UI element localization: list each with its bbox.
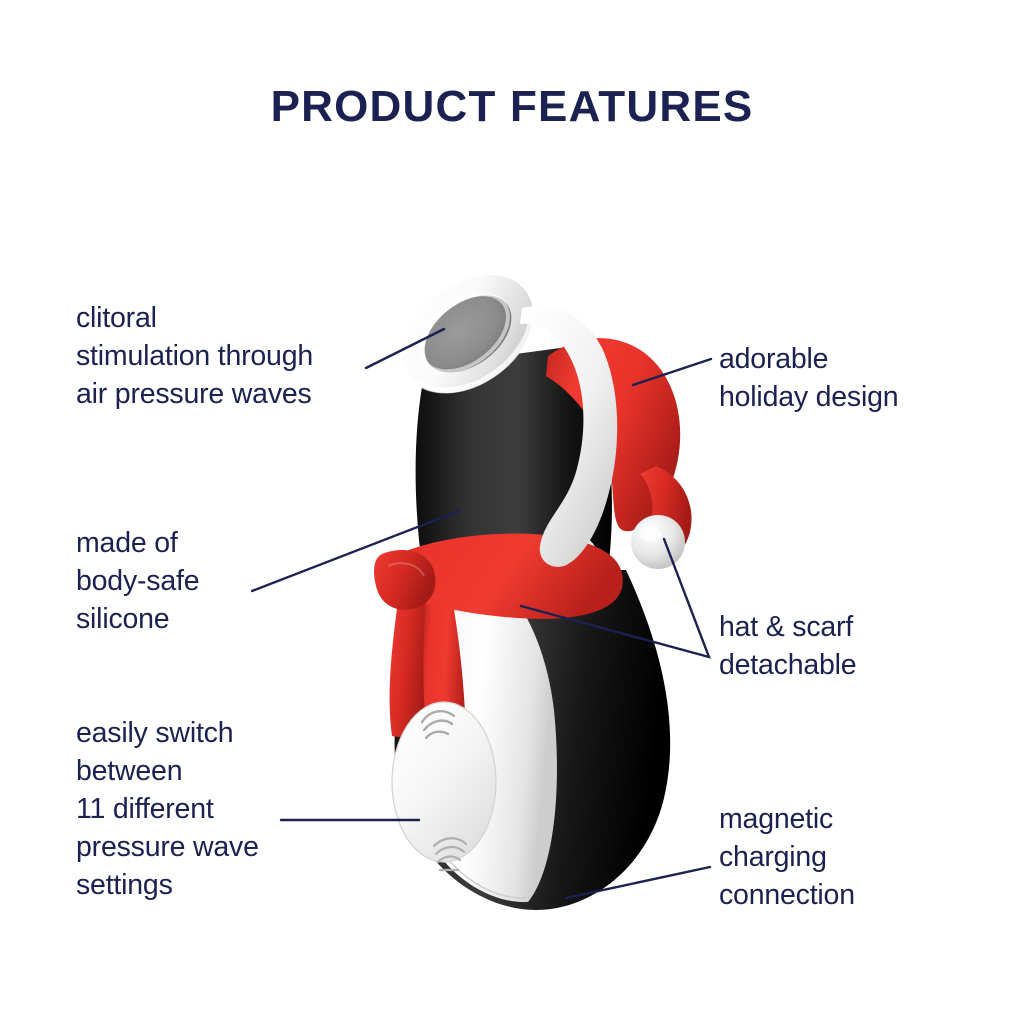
scarf-knot bbox=[374, 550, 435, 610]
callout-hat-scarf-detachable: hat & scarf detachable bbox=[719, 608, 856, 684]
callout-clitoral-stimulation: clitoral stimulation through air pressur… bbox=[76, 299, 313, 413]
product-illustration bbox=[340, 270, 760, 940]
callout-body-safe-silicone: made of body-safe silicone bbox=[76, 524, 199, 638]
callout-pressure-wave-settings: easily switch between 11 different press… bbox=[76, 714, 259, 904]
hat-pompom bbox=[631, 515, 685, 569]
callout-holiday-design: adorable holiday design bbox=[719, 340, 898, 416]
page-title: PRODUCT FEATURES bbox=[0, 82, 1024, 132]
control-button bbox=[392, 702, 496, 862]
product-features-infographic: PRODUCT FEATURES bbox=[0, 0, 1024, 1024]
callout-magnetic-charging: magnetic charging connection bbox=[719, 800, 855, 914]
